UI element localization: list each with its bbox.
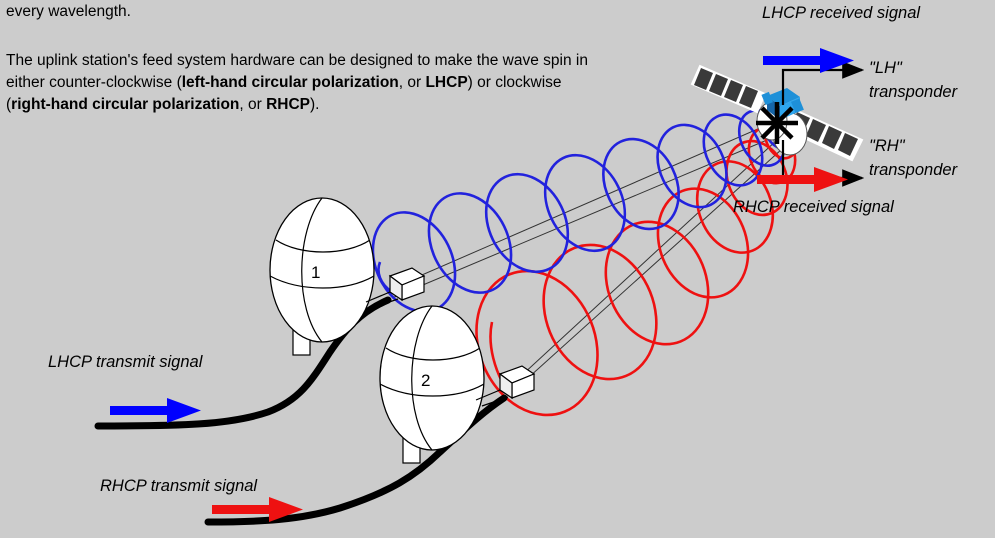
label-lh-transponder-name: "LH" <box>869 58 902 79</box>
label-lhcp-received-signal: LHCP received signal <box>762 3 920 24</box>
dish-1[interactable] <box>270 198 374 342</box>
label-rh-transponder-word: transponder <box>869 160 957 181</box>
label-rhcp-transmit-signal: RHCP transmit signal <box>100 476 257 497</box>
diagram-canvas: every wavelength. The uplink station's f… <box>0 0 995 538</box>
label-rhcp-received-signal: RHCP received signal <box>733 197 894 218</box>
feed-horn-1 <box>366 268 424 308</box>
rhcp-received-arrow <box>757 167 848 192</box>
label-lhcp-transmit-signal: LHCP transmit signal <box>48 352 202 373</box>
satellite-link-illustration: 1 2 <box>0 0 995 538</box>
label-lh-transponder-word: transponder <box>869 82 957 103</box>
satellite-feed-cross <box>756 102 798 144</box>
label-rh-transponder-name: "RH" <box>869 136 905 157</box>
dish-2-number: 2 <box>421 371 430 390</box>
solar-panel-left <box>692 66 765 112</box>
dish-1-number: 1 <box>311 263 320 282</box>
lhcp-transmit-arrow <box>110 398 201 423</box>
dish-2[interactable] <box>380 306 484 450</box>
